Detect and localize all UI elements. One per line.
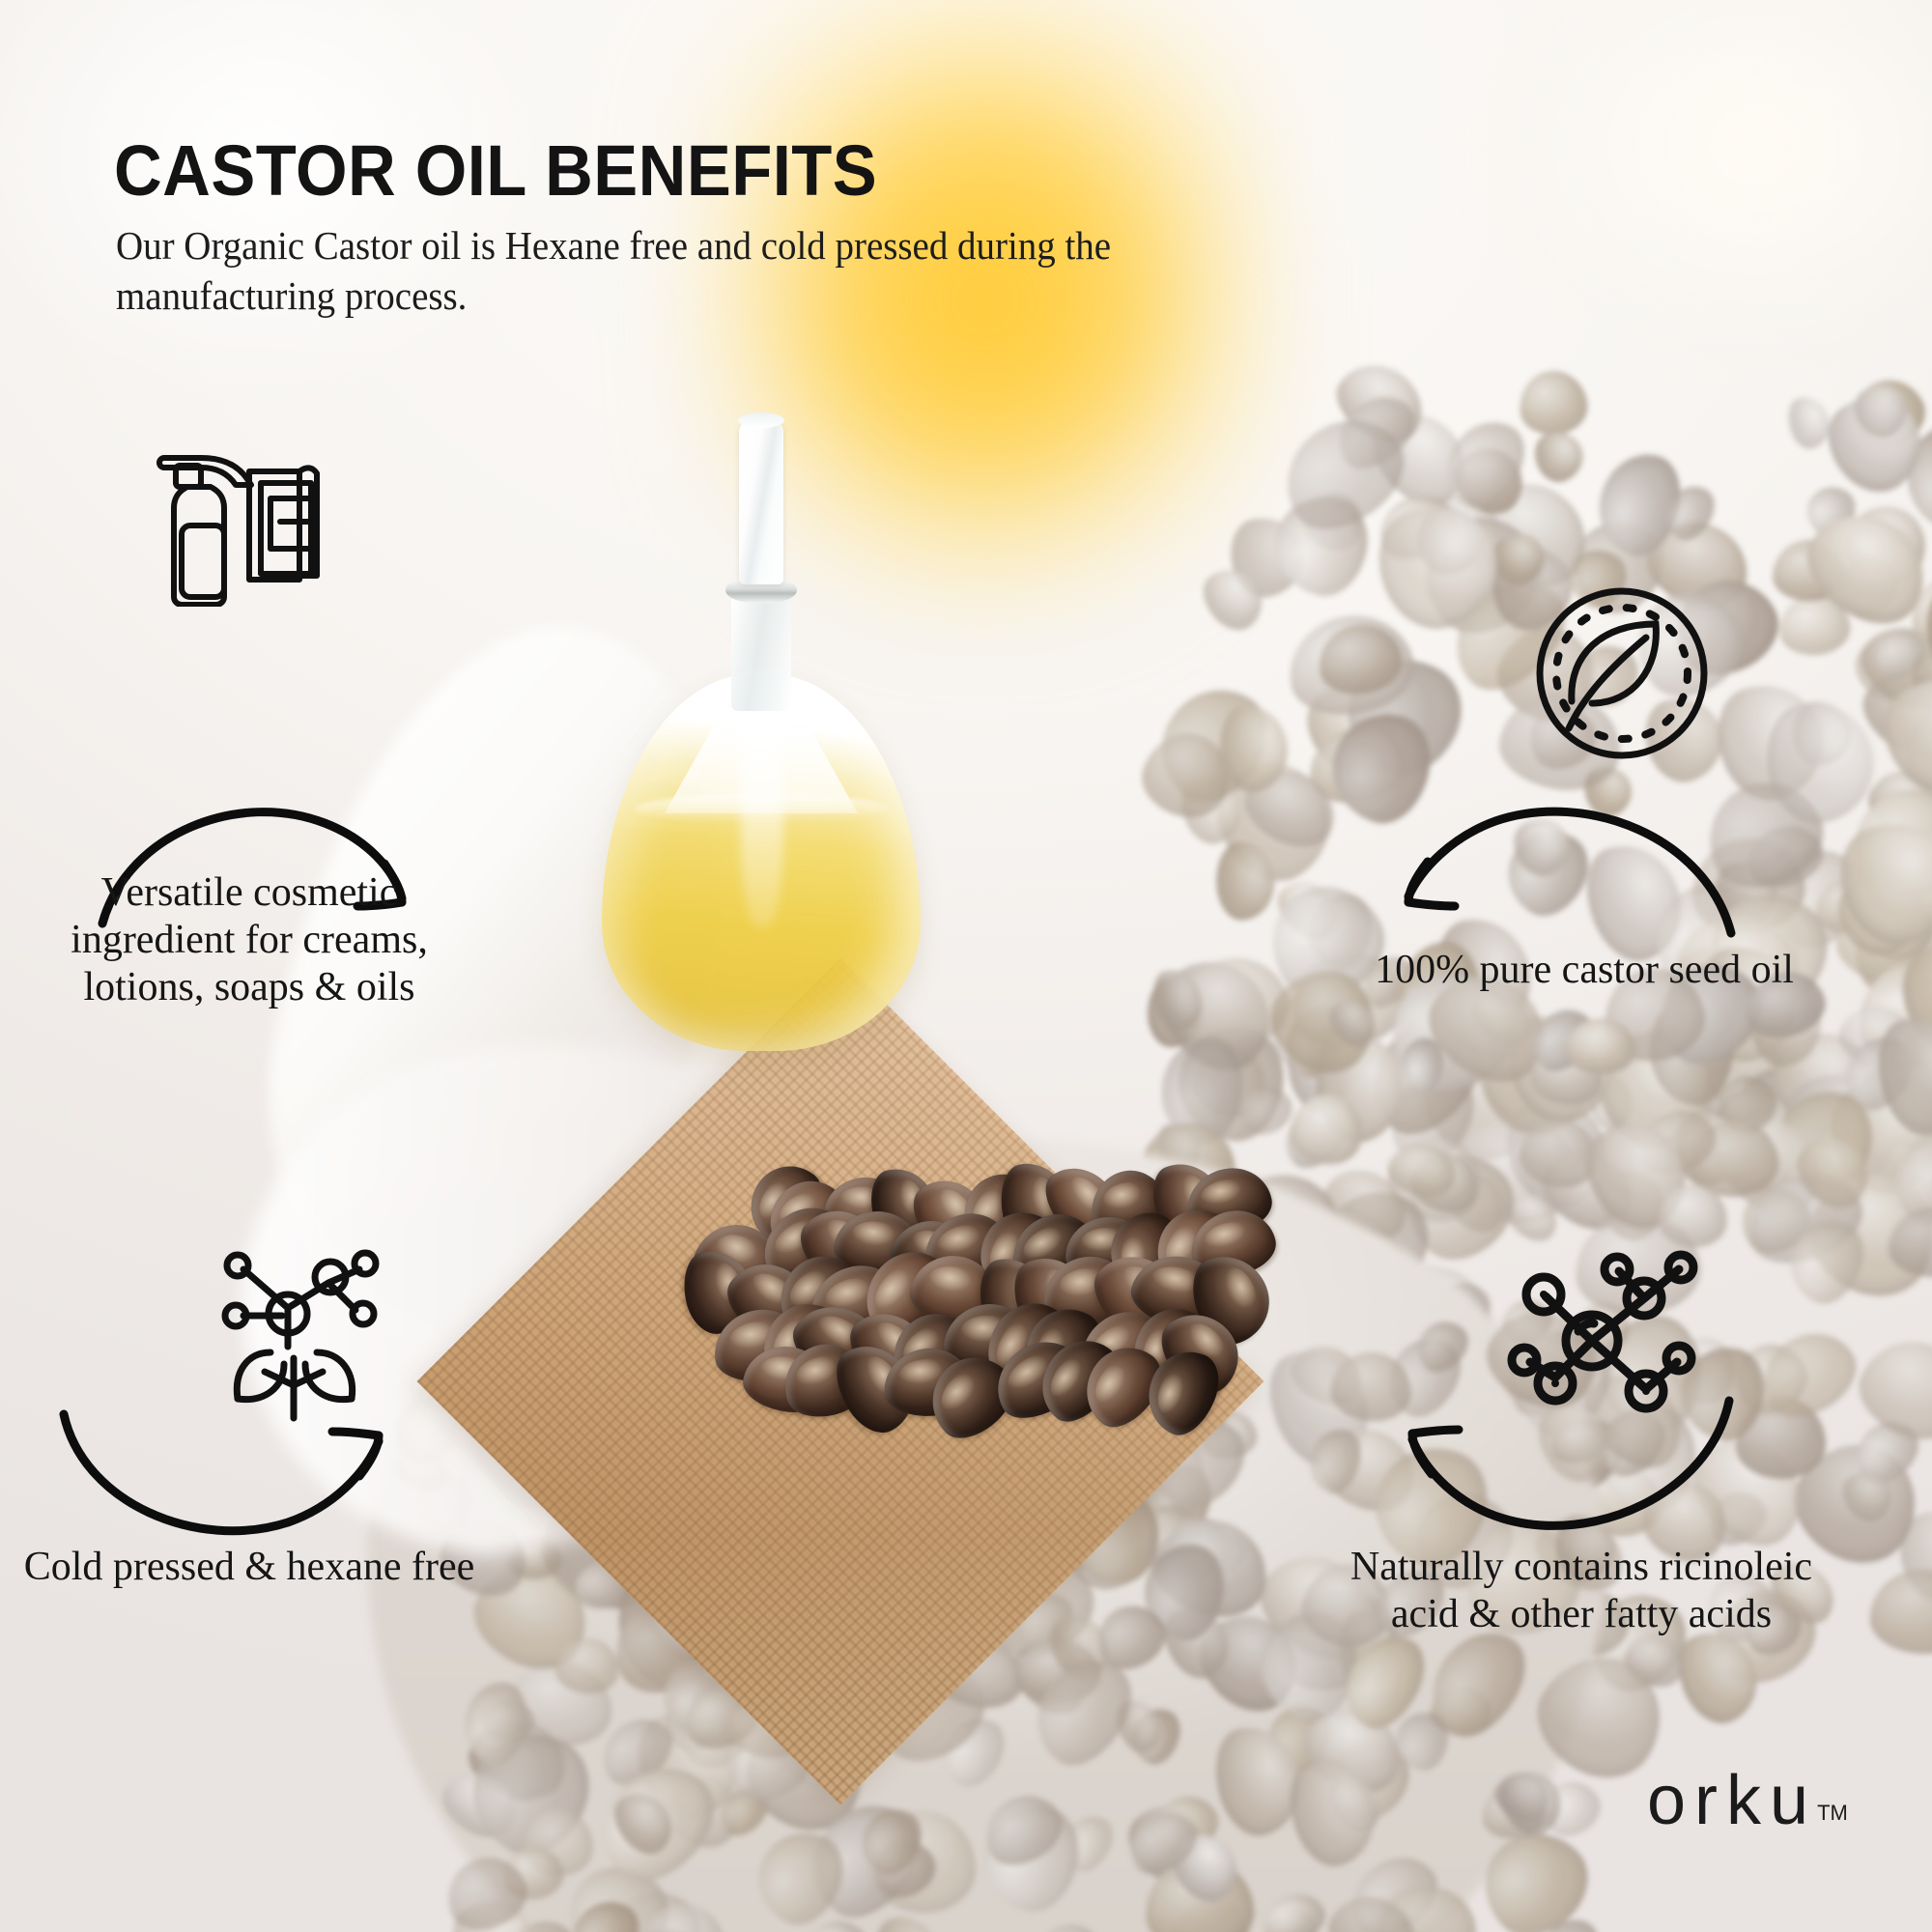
infographic-canvas: CASTOR OIL BENEFITS Our Organic Castor o… — [0, 0, 1932, 1932]
brand-logo: orkuTM — [1647, 1766, 1848, 1835]
curved-arrow-right-up-icon — [56, 1381, 423, 1555]
benefit-label-pure-castor-seed-oil: 100% pure castor seed oil — [1372, 947, 1797, 994]
page-title: CASTOR OIL BENEFITS — [114, 135, 877, 207]
brand-trademark: TM — [1817, 1801, 1848, 1825]
eco-leaf-badge-icon — [1532, 583, 1712, 763]
page-subtitle: Our Organic Castor oil is Hexane free an… — [116, 220, 1162, 322]
content-layer: CASTOR OIL BENEFITS Our Organic Castor o… — [0, 0, 1932, 1932]
castor-seed-heap — [676, 1169, 1236, 1420]
brand-logo-text: orku — [1647, 1762, 1817, 1839]
benefit-label-cold-pressed-hexane-free: Cold pressed & hexane free — [17, 1544, 481, 1591]
benefit-label-versatile-cosmetic: Versatile cosmetic ingredient for creams… — [27, 869, 471, 1011]
curved-arrow-left-up-icon — [1370, 1372, 1737, 1555]
cosmetics-bottle-icon — [147, 437, 336, 607]
curved-arrow-left-down-icon — [1372, 782, 1739, 956]
benefit-label-ricinoleic-acid: Naturally contains ricinoleic acid & oth… — [1335, 1544, 1828, 1638]
